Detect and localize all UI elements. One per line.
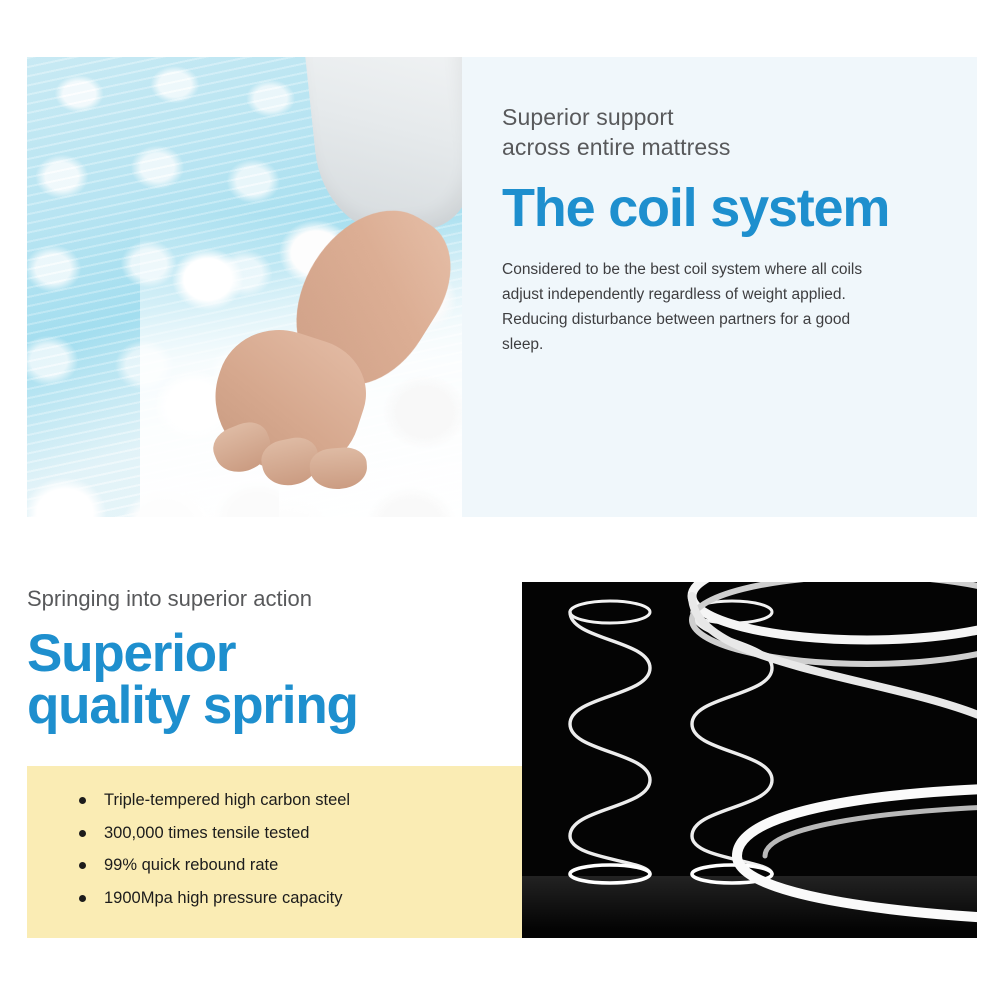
list-item-label: 99% quick rebound rate bbox=[104, 856, 278, 874]
pocket-spring-coil-mattress-hand-photo bbox=[27, 57, 462, 517]
list-item: 99% quick rebound rate bbox=[73, 857, 522, 874]
bullet-dot-icon bbox=[79, 862, 86, 869]
coil-system-eyebrow-line1: Superior support bbox=[502, 104, 674, 130]
quality-spring-headline-line1: Superior bbox=[27, 624, 235, 683]
list-item: 300,000 times tensile tested bbox=[73, 825, 522, 842]
coil-system-headline: The coil system bbox=[502, 179, 937, 237]
coil-system-body-copy: Considered to be the best coil system wh… bbox=[502, 257, 874, 357]
quality-spring-text-block: Springing into superior action Superior … bbox=[27, 582, 522, 938]
coil-system-text-block: Superior support across entire mattress … bbox=[462, 57, 977, 517]
product-infographic-page: Superior support across entire mattress … bbox=[0, 0, 1000, 1000]
spring-features-list: Triple-tempered high carbon steel 300,00… bbox=[73, 792, 522, 906]
coil-system-eyebrow-line2: across entire mattress bbox=[502, 134, 730, 160]
bullet-dot-icon bbox=[79, 797, 86, 804]
list-item-label: 300,000 times tensile tested bbox=[104, 824, 309, 842]
spring-reflection bbox=[522, 876, 977, 938]
list-item: 1900Mpa high pressure capacity bbox=[73, 890, 522, 907]
spring-features-panel: Triple-tempered high carbon steel 300,00… bbox=[27, 766, 522, 938]
quality-spring-headline: Superior quality spring bbox=[27, 628, 522, 733]
list-item-label: Triple-tempered high carbon steel bbox=[104, 791, 350, 809]
coil-system-eyebrow: Superior support across entire mattress bbox=[502, 103, 937, 163]
list-item-label: 1900Mpa high pressure capacity bbox=[104, 889, 342, 907]
coil-system-section: Superior support across entire mattress … bbox=[27, 57, 977, 517]
metal-coil-springs-black-background-photo bbox=[522, 582, 977, 938]
quality-spring-section: Springing into superior action Superior … bbox=[0, 582, 1000, 938]
quality-spring-eyebrow: Springing into superior action bbox=[27, 585, 522, 614]
bullet-dot-icon bbox=[79, 895, 86, 902]
bullet-dot-icon bbox=[79, 830, 86, 837]
quality-spring-headline-line2: quality spring bbox=[27, 676, 358, 735]
list-item: Triple-tempered high carbon steel bbox=[73, 792, 522, 809]
